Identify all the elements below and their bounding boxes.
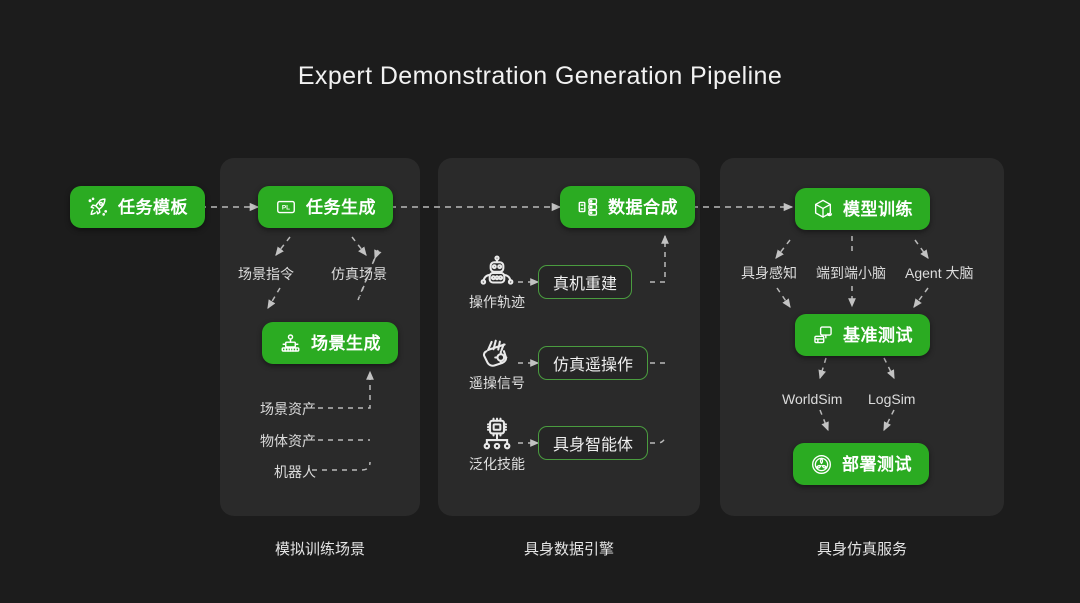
monitor-icon — [812, 324, 834, 346]
box-real-machine-reconstruction[interactable]: 真机重建 — [538, 265, 632, 299]
annotation-worldsim: WorldSim — [782, 391, 842, 407]
node-deployment-test[interactable]: 部署测试 — [793, 443, 929, 485]
item-generalization-skill: 泛化技能 — [464, 414, 530, 474]
node-data-synthesis[interactable]: 数据合成 — [560, 186, 695, 228]
annotation-end-to-end-cerebellum: 端到端小脑 — [816, 263, 886, 283]
robot-icon — [464, 252, 530, 292]
node-task-generation[interactable]: PL 任务生成 — [258, 186, 393, 228]
annotation-logsim: LogSim — [868, 391, 915, 407]
item-caption: 泛化技能 — [469, 456, 525, 472]
pl-frame-icon: PL — [275, 196, 297, 218]
item-caption: 遥操信号 — [469, 375, 525, 391]
item-caption: 操作轨迹 — [469, 294, 525, 310]
box-label: 具身智能体 — [553, 431, 633, 455]
item-teleoperation-signal: 遥操信号 — [464, 333, 530, 393]
annotation-scene-instruction: 场景指令 — [238, 264, 294, 284]
gear-globe-icon — [810, 453, 833, 476]
svg-text:PL: PL — [282, 204, 290, 211]
caption-panel-3: 具身仿真服务 — [720, 538, 1004, 559]
node-label: 任务模板 — [118, 199, 188, 216]
node-label: 基准测试 — [843, 327, 913, 344]
annotation-scene-assets: 场景资产 — [260, 399, 316, 419]
caption-panel-1: 模拟训练场景 — [220, 538, 420, 559]
node-label: 数据合成 — [608, 199, 678, 216]
scene-robot-icon — [279, 332, 302, 355]
box-label: 真机重建 — [553, 270, 617, 294]
node-label: 模型训练 — [843, 201, 913, 218]
item-operation-trajectory: 操作轨迹 — [464, 252, 530, 312]
node-benchmark-test[interactable]: 基准测试 — [795, 314, 930, 356]
data-merge-icon — [577, 196, 599, 218]
node-task-template[interactable]: 任务模板 — [70, 186, 205, 228]
node-label: 场景生成 — [311, 335, 381, 352]
glove-icon — [464, 333, 530, 373]
node-scene-generation[interactable]: 场景生成 — [262, 322, 398, 364]
annotation-robot: 机器人 — [274, 462, 316, 482]
annotation-embodied-perception: 具身感知 — [741, 263, 797, 283]
rocket-icon — [87, 196, 109, 218]
box-embodied-agent[interactable]: 具身智能体 — [538, 426, 648, 460]
diagram-canvas: Expert Demonstration Generation Pipeline — [0, 0, 1080, 603]
page-title: Expert Demonstration Generation Pipeline — [0, 62, 1080, 91]
cube-icon — [812, 198, 834, 220]
caption-panel-2: 具身数据引擎 — [438, 538, 700, 559]
node-label: 部署测试 — [842, 456, 912, 473]
box-simulated-teleoperation[interactable]: 仿真遥操作 — [538, 346, 648, 380]
annotation-object-assets: 物体资产 — [260, 431, 316, 451]
box-label: 仿真遥操作 — [553, 351, 633, 375]
node-model-training[interactable]: 模型训练 — [795, 188, 930, 230]
node-label: 任务生成 — [306, 199, 376, 216]
annotation-simulation-scene: 仿真场景 — [331, 264, 387, 284]
chip-icon — [464, 414, 530, 454]
annotation-agent-brain: Agent 大脑 — [905, 263, 973, 283]
